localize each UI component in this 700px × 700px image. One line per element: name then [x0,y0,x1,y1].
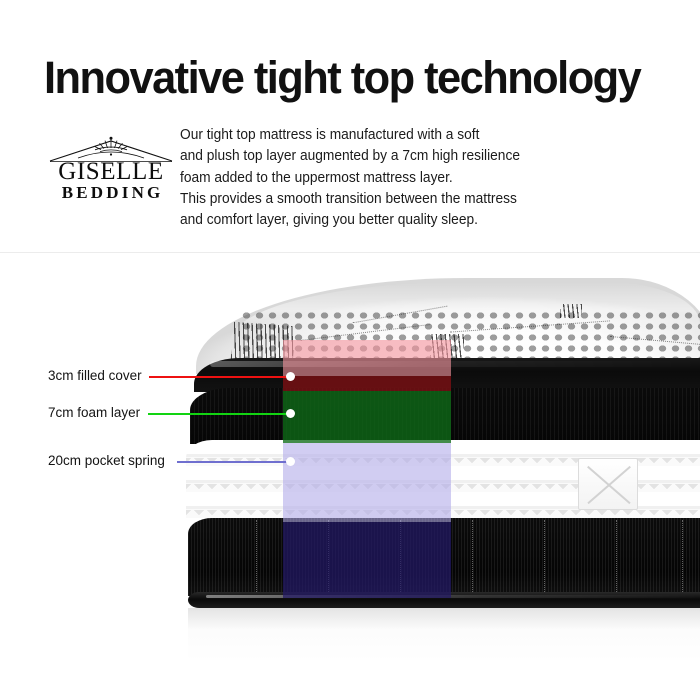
base-stitch [472,520,473,594]
annotation-leader-line-foam [148,413,291,415]
base-stitch [682,520,683,594]
product-infographic: Innovative tight top technology GISELLE … [0,0,700,700]
description-line: This provides a smooth transition betwee… [180,189,524,210]
overlay-band-cover-dark [283,376,451,391]
description-text: Our tight top mattress is manufactured w… [180,125,524,231]
quilt-hatching [560,304,582,318]
logo-brand-name: GISELLE [48,158,174,185]
description-line: and plush top layer augmented by a 7cm h… [180,146,524,167]
bottom-rail-highlight [206,595,700,598]
annotation-leader-line-spring [177,461,291,463]
description-line: Our tight top mattress is manufactured w… [180,125,524,146]
overlay-band-spring-dark [283,522,451,598]
annotation-label-spring: 20cm pocket spring [48,453,165,469]
description-line: and comfort layer, giving you better qua… [180,210,524,231]
annotation-label-cover: 3cm filled cover [48,368,142,384]
brand-logo: GISELLE BEDDING [48,136,174,202]
floor-reflection [188,608,700,662]
annotation-marker-cover [286,372,295,381]
overlay-band-cover-light [283,340,451,376]
annotation-label-foam: 7cm foam layer [48,405,140,421]
overlay-band-foam [283,391,451,443]
description-line: foam added to the uppermost mattress lay… [180,168,524,189]
base-stitch [616,520,617,594]
overlay-band-spring-light [283,443,451,522]
logo-brand-sub: BEDDING [48,183,174,202]
base-stitch [544,520,545,594]
annotation-marker-spring [286,457,295,466]
mattress-x-emblem-icon [578,458,638,510]
base-stitch [256,520,257,594]
annotation-marker-foam [286,409,295,418]
section-divider [0,252,700,253]
annotation-leader-line-cover [149,376,291,378]
page-title: Innovative tight top technology [44,52,662,104]
